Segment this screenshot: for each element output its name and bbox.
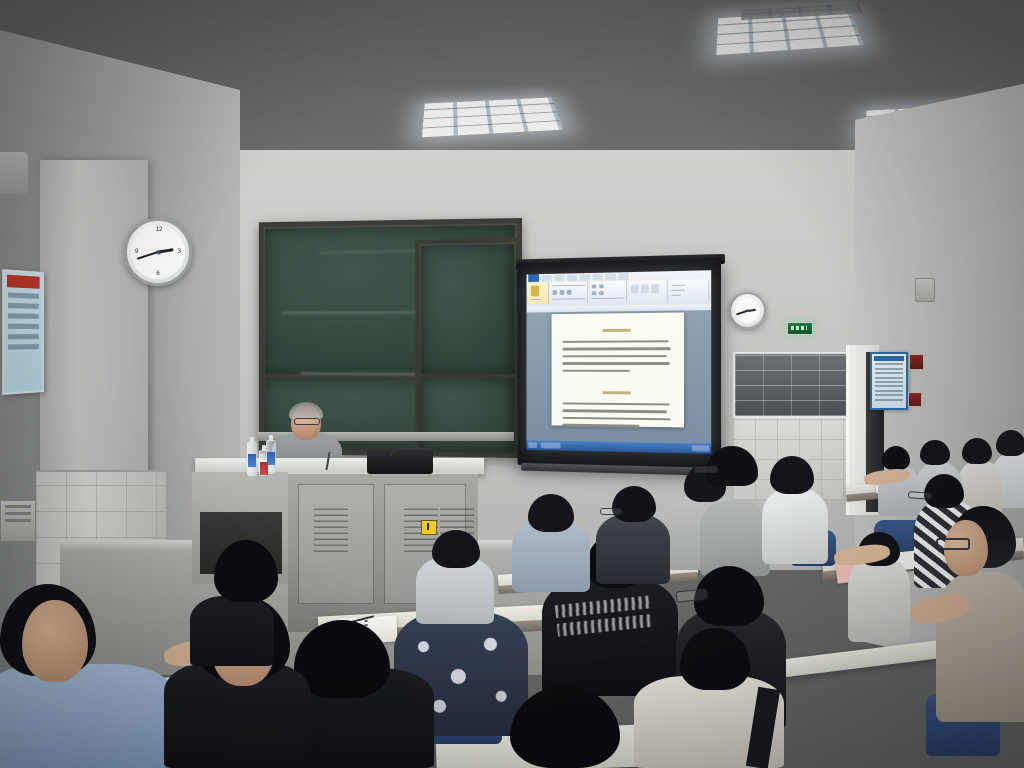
student-glasses bbox=[600, 508, 622, 515]
clock-face bbox=[735, 298, 760, 323]
word-file-tab[interactable] bbox=[528, 274, 539, 282]
clock-face: 12 3 6 9 bbox=[131, 225, 185, 279]
word-tab-insert[interactable] bbox=[554, 275, 564, 282]
word-tab-references[interactable] bbox=[580, 274, 590, 281]
stone-wainscot-band bbox=[733, 352, 859, 418]
lecture-hall-photo: wall notice board wall notice board emer… bbox=[0, 0, 1024, 768]
word-tab-view[interactable] bbox=[619, 273, 629, 280]
word-tab-home[interactable] bbox=[542, 275, 552, 282]
word-group-editing[interactable] bbox=[670, 279, 709, 302]
fire-alarm-box-upper[interactable] bbox=[909, 354, 924, 370]
water-bottle-3 bbox=[259, 450, 267, 476]
electrical-hazard-sticker bbox=[421, 520, 437, 535]
clock-minute-hand bbox=[736, 310, 748, 315]
word-document-area[interactable]: text too small to read bbox=[526, 310, 711, 444]
bag-handle bbox=[390, 448, 438, 456]
emergency-exit-sign: emergency exit sign bbox=[787, 322, 813, 335]
wall-speaker bbox=[915, 278, 935, 302]
word-group-paragraph[interactable] bbox=[590, 281, 628, 303]
ceiling-light-panel-2 bbox=[422, 97, 563, 137]
blackboard-side-panel bbox=[415, 238, 520, 458]
fire-alarm-box-lower[interactable] bbox=[908, 392, 922, 407]
lecturer-glasses bbox=[294, 418, 320, 425]
word-tab-review[interactable] bbox=[606, 273, 616, 280]
clock-minute-hand bbox=[137, 251, 159, 260]
projected-image: text too small to read bbox=[526, 270, 711, 454]
taskbar-tray[interactable] bbox=[692, 445, 709, 451]
wall-clock-right: 2:42 bbox=[729, 292, 766, 329]
air-conditioner-unit bbox=[0, 152, 28, 194]
word-group-font[interactable] bbox=[551, 282, 588, 304]
notice-board-left[interactable]: wall notice board bbox=[2, 269, 44, 395]
water-bottle-1 bbox=[247, 442, 257, 476]
word-page[interactable]: text too small to read bbox=[551, 312, 684, 427]
taskbar-start-button[interactable] bbox=[528, 442, 537, 448]
student-glasses bbox=[694, 466, 718, 473]
word-group-styles[interactable] bbox=[629, 280, 668, 302]
taskbar-app-button[interactable] bbox=[541, 442, 561, 448]
wall-utility-box bbox=[0, 500, 36, 542]
notice-header-bar bbox=[874, 356, 904, 361]
notice-board-right[interactable]: wall notice board bbox=[870, 352, 908, 410]
word-ribbon-groups[interactable] bbox=[528, 279, 709, 304]
word-ribbon[interactable] bbox=[526, 270, 711, 308]
student-glasses bbox=[936, 538, 970, 550]
clock-hour-hand bbox=[158, 248, 173, 253]
wall-clock-left: 12 3 6 9 2:42 bbox=[124, 218, 192, 286]
doc-heading-2 bbox=[602, 391, 631, 394]
notice-header-bar bbox=[7, 275, 40, 289]
projection-screen: text too small to read bbox=[518, 258, 721, 470]
doc-heading-1 bbox=[602, 329, 631, 332]
word-group-clipboard[interactable] bbox=[528, 283, 549, 304]
word-tab-mailings[interactable] bbox=[593, 274, 603, 281]
word-tab-page-layout[interactable] bbox=[567, 274, 577, 281]
